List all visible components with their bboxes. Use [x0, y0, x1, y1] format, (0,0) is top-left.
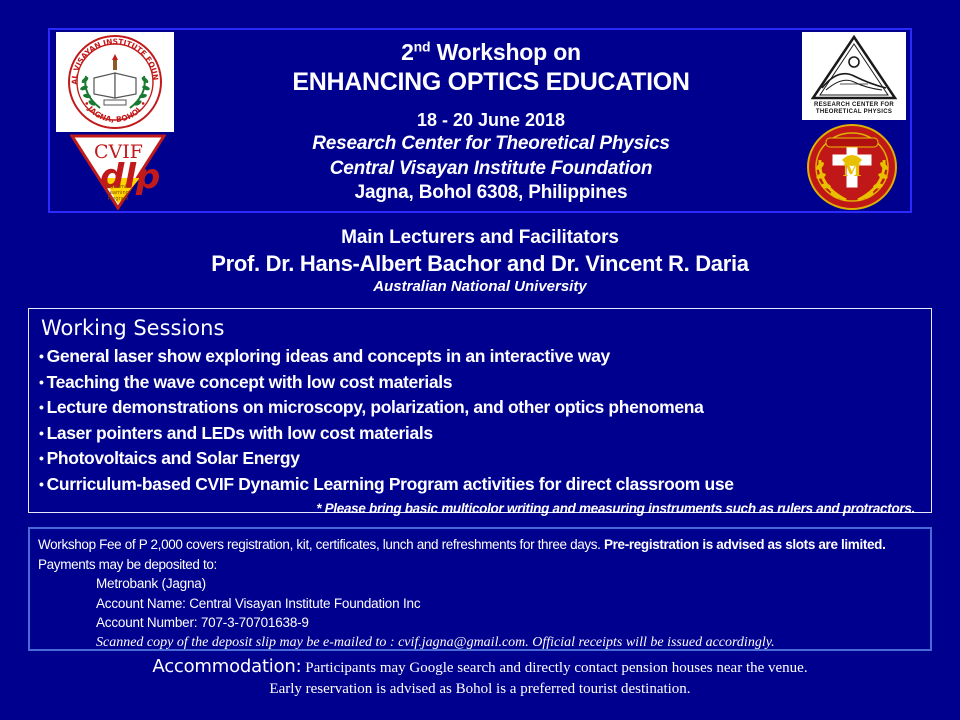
session-item-label: Teaching the wave concept with low cost … — [47, 372, 453, 392]
fee-account-name: Account Name: Central Visayan Institute … — [38, 594, 922, 614]
left-logo-group: CENTRAL VISAYAN INSTITUTE FOUNDATION • J… — [54, 32, 180, 210]
list-item: •General laser show exploring ideas and … — [39, 344, 921, 370]
list-item: •Teaching the wave concept with low cost… — [39, 370, 921, 396]
working-sessions-note: * Please bring basic multicolor writing … — [39, 501, 921, 516]
fee-scanned-slip-note: Scanned copy of the deposit slip may be … — [38, 633, 922, 652]
fee-preregistration-notice: Pre-registration is advised as slots are… — [604, 537, 885, 552]
svg-text:Program: Program — [107, 196, 128, 202]
right-logo-group: RESEARCH CENTER FOR THEORETICAL PHYSICS — [802, 32, 908, 210]
bullet-icon: • — [39, 450, 44, 466]
workshop-poster: CENTRAL VISAYAN INSTITUTE FOUNDATION • J… — [0, 0, 960, 720]
bullet-icon: • — [39, 348, 44, 364]
session-item-label: General laser show exploring ideas and c… — [47, 346, 610, 366]
working-sessions-list: •General laser show exploring ideas and … — [39, 344, 921, 497]
red-gold-seal-icon: M — [806, 124, 898, 210]
lecturers-heading: Main Lecturers and Facilitators — [0, 226, 960, 250]
workshop-ordinal-line: 2nd Workshop on — [190, 38, 792, 66]
organizer-line-1: Research Center for Theoretical Physics — [190, 131, 792, 156]
fee-box: Workshop Fee of P 2,000 covers registrat… — [28, 527, 932, 651]
cvif-seal-icon: CENTRAL VISAYAN INSTITUTE FOUNDATION • J… — [56, 32, 174, 132]
header-text-block: 2nd Workshop on ENHANCING OPTICS EDUCATI… — [190, 36, 792, 205]
list-item: •Curriculum-based CVIF Dynamic Learning … — [39, 472, 921, 498]
fee-paragraph: Workshop Fee of P 2,000 covers registrat… — [38, 535, 922, 574]
accommodation-line-1: Accommodation: Participants may Google s… — [0, 656, 960, 679]
fee-paragraph-part1: Workshop Fee of P 2,000 covers registrat… — [38, 537, 604, 552]
workshop-ordinal: 2 — [401, 39, 414, 65]
event-dates: 18 - 20 June 2018 — [190, 109, 792, 131]
session-item-label: Lecture demonstrations on microscopy, po… — [47, 397, 704, 417]
poster-title: ENHANCING OPTICS EDUCATION — [190, 67, 792, 97]
bullet-icon: • — [39, 374, 44, 390]
bullet-icon: • — [39, 399, 44, 415]
rctp-logo-icon: RESEARCH CENTER FOR THEORETICAL PHYSICS — [802, 32, 906, 120]
rctp-caption-line-1: RESEARCH CENTER FOR — [802, 102, 906, 109]
accommodation-label: Accommodation: — [152, 656, 301, 677]
bullet-icon: • — [39, 476, 44, 492]
bullet-icon: • — [39, 425, 44, 441]
workshop-ordinal-suffix: nd — [414, 38, 431, 54]
fee-bank-name: Metrobank (Jagna) — [38, 574, 922, 594]
session-item-label: Photovoltaics and Solar Energy — [47, 448, 300, 468]
rctp-caption: RESEARCH CENTER FOR THEORETICAL PHYSICS — [802, 102, 906, 116]
svg-text:M: M — [843, 161, 862, 181]
lecturers-names: Prof. Dr. Hans-Albert Bachor and Dr. Vin… — [0, 250, 960, 277]
fee-paragraph-part2: Payments may be deposited to: — [38, 557, 217, 572]
list-item: •Laser pointers and LEDs with low cost m… — [39, 421, 921, 447]
list-item: •Photovoltaics and Solar Energy — [39, 446, 921, 472]
lecturers-block: Main Lecturers and Facilitators Prof. Dr… — [0, 226, 960, 297]
event-location: Jagna, Bohol 6308, Philippines — [190, 181, 792, 205]
organizer-line-2: Central Visayan Institute Foundation — [190, 156, 792, 181]
fee-account-number: Account Number: 707-3-70701638-9 — [38, 613, 922, 633]
session-item-label: Laser pointers and LEDs with low cost ma… — [47, 423, 433, 443]
working-sessions-box: Working Sessions •General laser show exp… — [28, 308, 932, 513]
accommodation-line-2: Early reservation is advised as Bohol is… — [0, 679, 960, 700]
cvif-dlp-logo-icon: CVIF dlp Dynamic Learning Program — [70, 134, 166, 210]
accommodation-text-1: Participants may Google search and direc… — [302, 660, 808, 676]
header-box: CENTRAL VISAYAN INSTITUTE FOUNDATION • J… — [48, 28, 912, 213]
accommodation-block: Accommodation: Participants may Google s… — [0, 656, 960, 700]
lecturers-affiliation: Australian National University — [0, 277, 960, 297]
workshop-word: Workshop on — [430, 39, 581, 65]
rctp-caption-line-2: THEORETICAL PHYSICS — [802, 109, 906, 116]
working-sessions-title: Working Sessions — [41, 315, 921, 341]
session-item-label: Curriculum-based CVIF Dynamic Learning P… — [47, 474, 734, 494]
list-item: •Lecture demonstrations on microscopy, p… — [39, 395, 921, 421]
